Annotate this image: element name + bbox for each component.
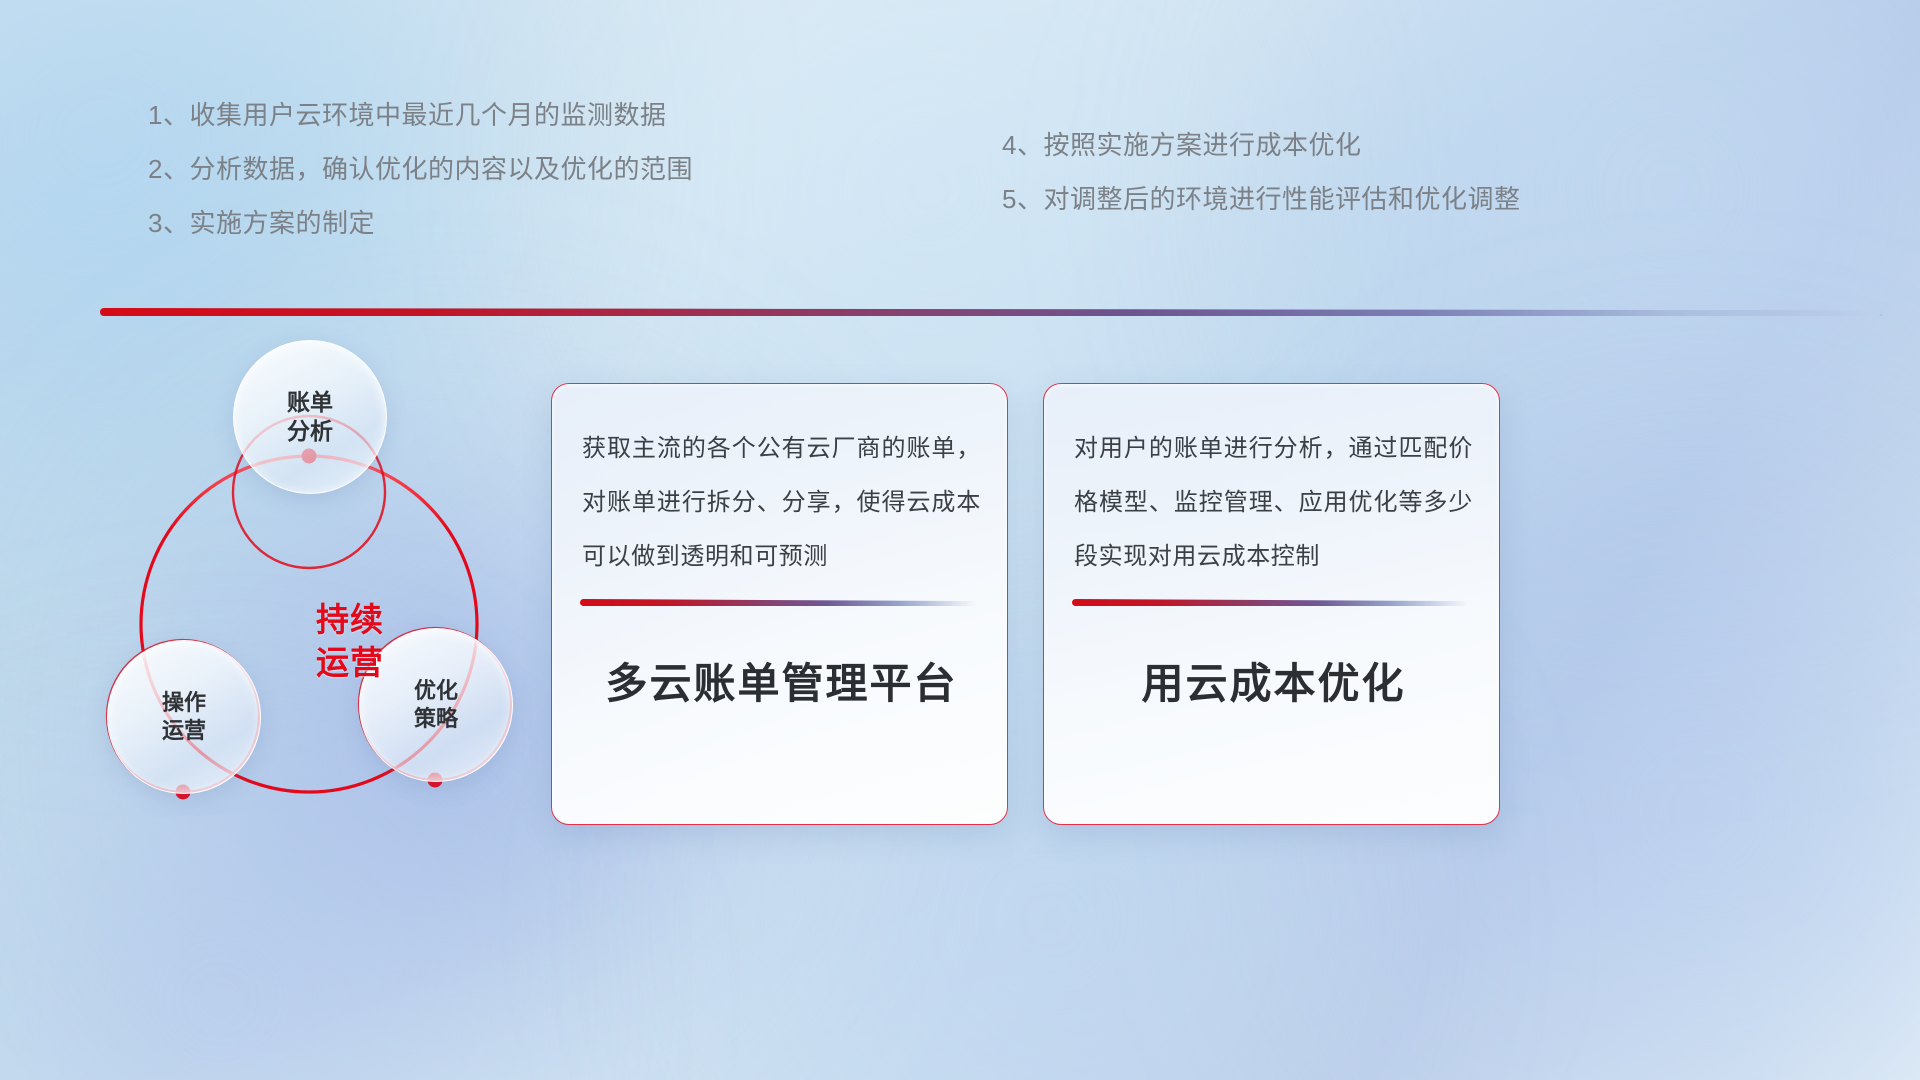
billing-label-line1: 账单 — [287, 388, 333, 417]
ops-label-line1: 操作 — [162, 689, 206, 717]
card-divider-rule — [580, 599, 976, 606]
diagram-node-billing-analysis[interactable]: 账单 分析 — [233, 340, 387, 494]
center-label-line2: 运营 — [316, 642, 384, 685]
continuous-operations-diagram: 账单 分析 操作 运营 优化 策略 持续 运营 — [95, 340, 615, 940]
card-body-text: 对用户的账单进行分析，通过匹配价格模型、监控管理、应用优化等多少段实现对用云成本… — [1074, 422, 1473, 584]
content-card-cost-optimization[interactable]: 对用户的账单进行分析，通过匹配价格模型、监控管理、应用优化等多少段实现对用云成本… — [1043, 383, 1500, 825]
card-divider-rule — [1072, 599, 1468, 606]
diagram-center-label: 持续 运营 — [255, 492, 445, 792]
card-body-text: 获取主流的各个公有云厂商的账单，对账单进行拆分、分享，使得云成本可以做到透明和可… — [582, 422, 981, 584]
step-item: 3、实施方案的制定 — [148, 196, 693, 250]
billing-label-line2: 分析 — [287, 417, 333, 446]
step-item: 2、分析数据，确认优化的内容以及优化的范围 — [148, 142, 693, 196]
steps-list-right: 4、按照实施方案进行成本优化 5、对调整后的环境进行性能评估和优化调整 — [1002, 118, 1520, 226]
center-label-line1: 持续 — [316, 599, 384, 642]
step-item: 1、收集用户云环境中最近几个月的监测数据 — [148, 88, 693, 142]
content-card-billing-platform[interactable]: 获取主流的各个公有云厂商的账单，对账单进行拆分、分享，使得云成本可以做到透明和可… — [551, 383, 1008, 825]
diagram-node-operations[interactable]: 操作 运营 — [107, 640, 261, 794]
step-item: 5、对调整后的环境进行性能评估和优化调整 — [1002, 172, 1520, 226]
ops-label-line2: 运营 — [162, 717, 206, 745]
slide-canvas: 1、收集用户云环境中最近几个月的监测数据 2、分析数据，确认优化的内容以及优化的… — [0, 0, 1920, 1080]
card-title: 用云成本优化 — [1072, 650, 1475, 711]
steps-list-left: 1、收集用户云环境中最近几个月的监测数据 2、分析数据，确认优化的内容以及优化的… — [148, 88, 693, 250]
step-item: 4、按照实施方案进行成本优化 — [1002, 118, 1520, 172]
card-title: 多云账单管理平台 — [580, 650, 983, 711]
